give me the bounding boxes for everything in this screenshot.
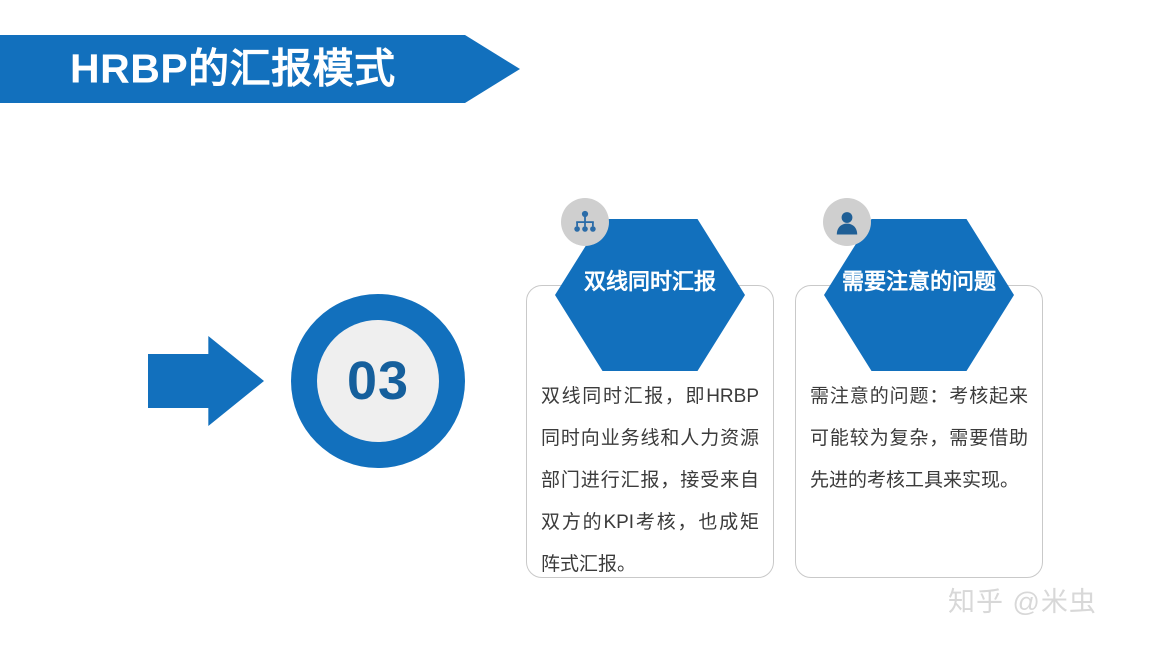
user-icon (835, 210, 859, 235)
page-title: HRBP的汇报模式 (70, 49, 396, 90)
step-number-label: 03 (347, 354, 409, 408)
card-title: 需要注意的问题 (789, 271, 1049, 293)
arrow-right-icon (148, 336, 264, 426)
card-title: 双线同时汇报 (520, 271, 780, 293)
user-icon-badge (823, 198, 871, 246)
title-banner: HRBP的汇报模式 (0, 35, 520, 103)
org-chart-icon (572, 210, 598, 234)
step-number-circle: 03 (291, 294, 465, 468)
watermark: 知乎 @米虫 (948, 589, 1097, 616)
org-chart-icon-badge (561, 198, 609, 246)
step-number-circle-inner: 03 (317, 320, 439, 442)
card-body-text: 需注意的问题：考核起来可能较为复杂，需要借助先进的考核工具来实现。 (796, 376, 1042, 502)
card-body-text: 双线同时汇报，即HRBP同时向业务线和人力资源部门进行汇报，接受来自双方的KPI… (527, 376, 773, 586)
